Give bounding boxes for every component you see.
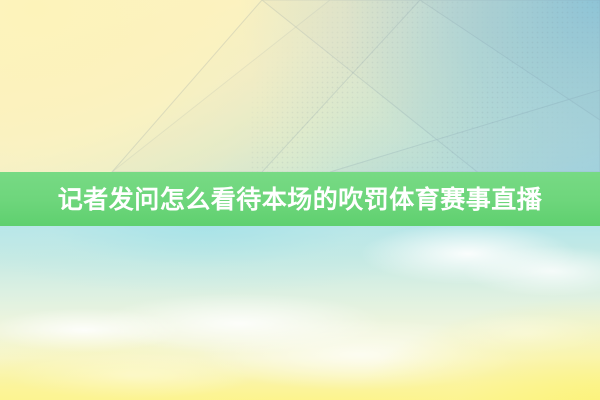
- title-banner-band: 记者发问怎么看待本场的吹罚体育赛事直播: [0, 172, 600, 226]
- background-bottom-glow: [0, 226, 600, 400]
- banner-canvas: 记者发问怎么看待本场的吹罚体育赛事直播: [0, 0, 600, 400]
- background-cyan-haze: [0, 226, 600, 336]
- background-dot-texture: [250, 0, 600, 172]
- background-clouds: [0, 226, 600, 400]
- background-lower-sky: [0, 226, 600, 400]
- banner-title: 记者发问怎么看待本场的吹罚体育赛事直播: [58, 187, 543, 212]
